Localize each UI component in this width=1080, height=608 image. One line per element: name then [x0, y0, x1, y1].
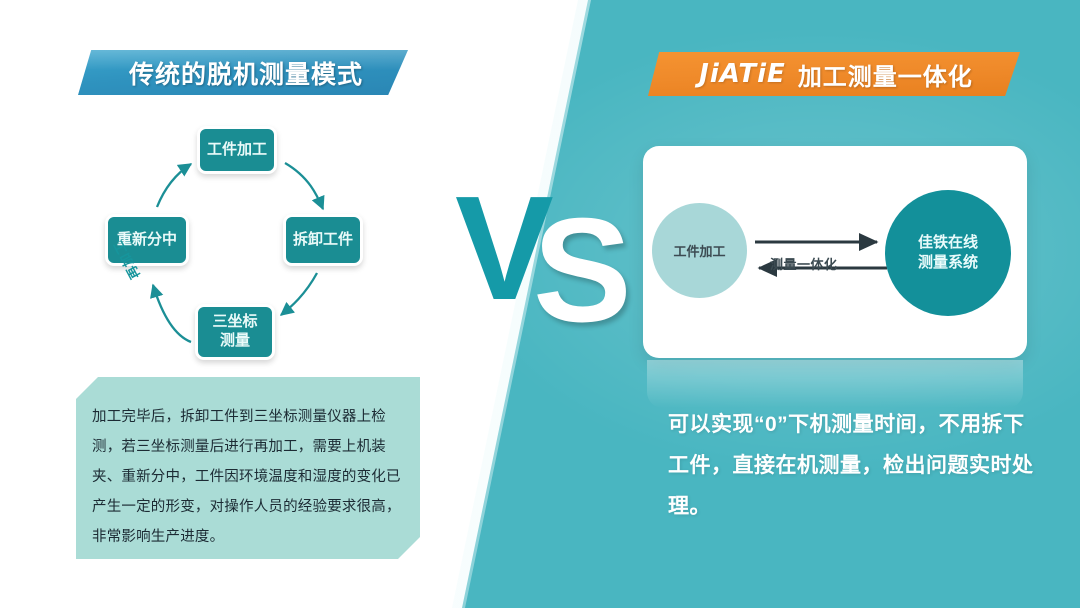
cycle-node-cmm-measure-label: 三坐标 测量	[212, 313, 257, 351]
versus-graphic: V S	[455, 175, 645, 350]
cycle-node-cmm-measure[interactable]: 三坐标 测量	[195, 304, 275, 360]
right-banner: JiATiE 加工测量一体化	[648, 52, 1020, 96]
left-banner-title: 传统的脱机测量模式	[78, 50, 408, 95]
circle-jiatie-system[interactable]: 佳铁在线 测量系统	[885, 190, 1011, 316]
circle-jiatie-system-line2: 测量系统	[918, 253, 978, 273]
right-banner-title: 加工测量一体化	[798, 57, 973, 92]
circle-jiatie-system-line1: 佳铁在线	[918, 233, 978, 253]
flow-label-integration: 测量一体化	[770, 254, 838, 273]
arrow-left-to-top	[157, 164, 191, 207]
arrow-right-to-bottom	[281, 273, 317, 315]
left-banner: 传统的脱机测量模式	[78, 50, 408, 95]
cycle-node-machining[interactable]: 工件加工	[197, 126, 277, 174]
traditional-cycle-diagram: 工件加工 拆卸工件 三坐标 测量 重新分中 再加工	[95, 115, 390, 370]
versus-letter-s: S	[533, 197, 626, 345]
arrow-top-to-right	[285, 163, 323, 209]
slide-canvas: 传统的脱机测量模式 JiATiE 加工测量一体化 工件加工 拆卸工件	[0, 0, 1080, 608]
arrow-bottom-to-left	[153, 285, 191, 342]
jiatie-logo: JiATiE	[699, 59, 786, 89]
cycle-node-unload[interactable]: 拆卸工件	[283, 214, 363, 266]
left-description-text: 加工完毕后，拆卸工件到三坐标测量仪器上检测，若三坐标测量后进行再加工，需要上机装…	[92, 402, 408, 552]
right-banner-content: JiATiE 加工测量一体化	[648, 52, 1020, 96]
circle-workpiece-machining[interactable]: 工件加工	[652, 203, 747, 298]
right-description-text: 可以实现“0”下机测量时间，不用拆下工件，直接在机测量，检出问题实时处理。	[668, 405, 1040, 528]
